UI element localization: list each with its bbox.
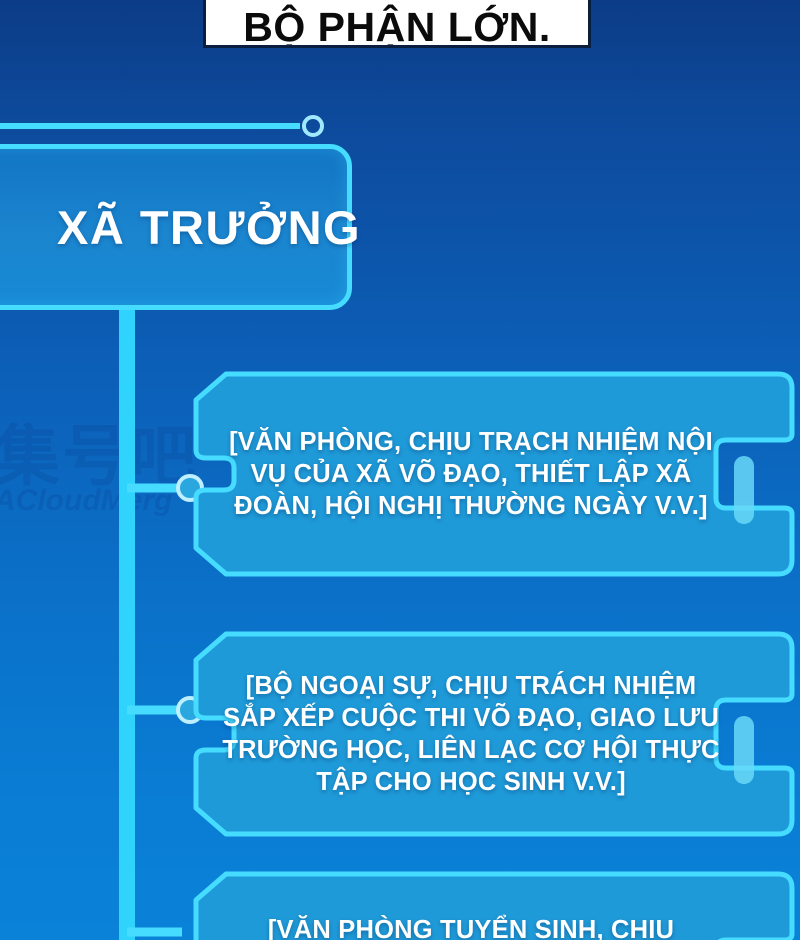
- org-detail-text-1: [VĂN PHÒNG, CHỊU TRẠCH NHIỆM NỘI VỤ CỦA …: [220, 366, 722, 582]
- caption-banner: BỘ PHẬN LỚN.: [203, 0, 591, 48]
- org-detail-card-3[interactable]: [VĂN PHÒNG TUYỂN SINH, CHỊU TRÁCH: [178, 866, 800, 940]
- org-detail-text-3: [VĂN PHÒNG TUYỂN SINH, CHỊU TRÁCH: [220, 866, 722, 940]
- org-detail-card-1[interactable]: [VĂN PHÒNG, CHỊU TRẠCH NHIỆM NỘI VỤ CỦA …: [178, 366, 800, 582]
- caption-text: BỘ PHẬN LỚN.: [243, 7, 550, 48]
- org-detail-text-2: [BỘ NGOẠI SỰ, CHỊU TRÁCH NHIỆM SẮP XẾP C…: [220, 626, 722, 842]
- org-root-label: XÃ TRƯỞNG: [57, 204, 361, 251]
- org-detail-card-2[interactable]: [BỘ NGOẠI SỰ, CHỊU TRÁCH NHIỆM SẮP XẾP C…: [178, 626, 800, 842]
- comic-panel: 集号吧 ACloudMerg XÃ TRƯỞNG [VĂN PHÒNG, CHỊ…: [0, 0, 800, 940]
- top-lead-node-icon: [304, 117, 322, 135]
- org-root-node[interactable]: XÃ TRƯỞNG: [0, 144, 352, 310]
